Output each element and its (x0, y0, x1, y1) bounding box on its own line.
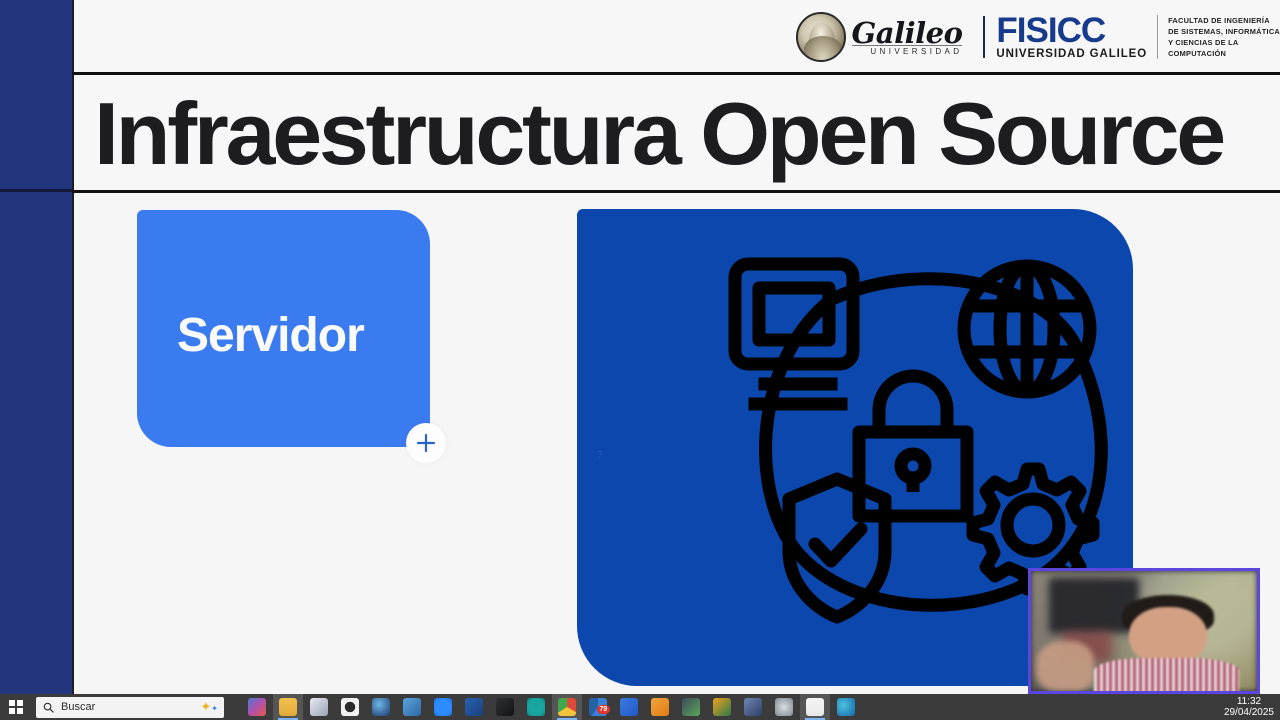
slide-rail-divider (0, 189, 72, 192)
start-icon[interactable] (0, 694, 32, 720)
chrome-notifications-icon[interactable]: 79 (583, 694, 613, 720)
taskbar-clock[interactable]: 11:32 29/04/2025 (1224, 696, 1280, 718)
logo-group: Galileo UNIVERSIDAD FISICC UNIVERSIDAD G… (796, 9, 1280, 65)
edge-icon[interactable] (831, 694, 861, 720)
paint-icon[interactable] (304, 694, 334, 720)
fritzing-icon[interactable] (769, 694, 799, 720)
sublime-text-icon-glyph (651, 698, 669, 716)
pdf-reader-icon-glyph (806, 698, 824, 716)
browser-globe-icon-glyph (372, 698, 390, 716)
galileo-portrait-icon (796, 12, 846, 62)
powershell-icon-glyph (465, 698, 483, 716)
fisicc-logo: FISICC UNIVERSIDAD GALILEO (996, 13, 1147, 61)
taskbar-app-list: 79 (242, 694, 861, 720)
desktop-screen: Galileo UNIVERSIDAD FISICC UNIVERSIDAD G… (0, 0, 1280, 720)
edge-icon-glyph (837, 698, 855, 716)
vmware-icon-glyph (713, 698, 731, 716)
remote-desktop-icon[interactable] (397, 694, 427, 720)
webcam-hand (1036, 641, 1095, 691)
webcam-overlay[interactable] (1028, 568, 1260, 694)
file-explorer-icon[interactable] (273, 694, 303, 720)
sync-folder-icon-glyph (682, 698, 700, 716)
slide-left-rail (0, 0, 72, 694)
network-drive-icon[interactable] (738, 694, 768, 720)
powershell-icon[interactable] (459, 694, 489, 720)
faculty-line: COMPUTACIÓN (1168, 48, 1280, 59)
dropbox-icon[interactable] (614, 694, 644, 720)
slide-header: Galileo UNIVERSIDAD FISICC UNIVERSIDAD G… (74, 0, 1280, 73)
logo-divider (983, 16, 985, 58)
faculty-line: DE SISTEMAS, INFORMÁTICA (1168, 26, 1280, 37)
webcam-presenter (1108, 595, 1226, 691)
remote-desktop-icon-glyph (403, 698, 421, 716)
galileo-logo: Galileo UNIVERSIDAD (796, 12, 973, 62)
faculty-line: Y CIENCIAS DE LA (1168, 37, 1280, 48)
browser-globe-icon[interactable] (366, 694, 396, 720)
search-placeholder: Buscar (61, 701, 95, 713)
plus-icon[interactable] (406, 423, 446, 463)
slide-title-band: Infraestructura Open Source (74, 75, 1280, 190)
sparkle-icon[interactable]: ✦✦ (200, 699, 218, 715)
search-icon (43, 702, 54, 713)
file-explorer-icon-glyph (279, 698, 297, 716)
servidor-card[interactable]: Servidor (137, 210, 430, 447)
clock-date: 29/04/2025 (1224, 707, 1274, 718)
faculty-divider (1157, 15, 1158, 59)
page-title: Infraestructura Open Source (94, 83, 1223, 185)
galileo-name: Galileo (852, 19, 963, 48)
pdf-reader-icon[interactable] (800, 694, 830, 720)
sync-folder-icon[interactable] (676, 694, 706, 720)
arduino-icon-glyph (527, 698, 545, 716)
zoom-icon-glyph (434, 698, 452, 716)
chrome-icon-glyph (558, 698, 576, 716)
faculty-block: FACULTAD DE INGENIERÍA DE SISTEMAS, INFO… (1168, 15, 1280, 60)
servidor-card-label: Servidor (177, 308, 364, 363)
arduino-icon[interactable] (521, 694, 551, 720)
paint-icon-glyph (310, 698, 328, 716)
presenter-face (1129, 607, 1207, 667)
slide-number: 7 (597, 449, 603, 461)
fritzing-icon-glyph (775, 698, 793, 716)
faculty-line: FACULTAD DE INGENIERÍA (1168, 15, 1280, 26)
zoom-icon[interactable] (428, 694, 458, 720)
opera-icon[interactable] (335, 694, 365, 720)
clock-time: 11:32 (1224, 696, 1274, 707)
sublime-text-icon[interactable] (645, 694, 675, 720)
windows-taskbar: Buscar ✦✦ 79 11:32 29/04/2025 (0, 694, 1280, 720)
search-input[interactable]: Buscar ✦✦ (36, 697, 224, 718)
terminal-icon-glyph (496, 698, 514, 716)
vmware-icon[interactable] (707, 694, 737, 720)
chrome-icon[interactable] (552, 694, 582, 720)
presenter-shirt (1094, 658, 1240, 694)
dropbox-icon-glyph (620, 698, 638, 716)
network-drive-icon-glyph (744, 698, 762, 716)
copilot-icon-glyph (248, 698, 266, 716)
fisicc-subtitle: UNIVERSIDAD GALILEO (996, 49, 1147, 61)
fisicc-name: FISICC (996, 13, 1147, 48)
copilot-icon[interactable] (242, 694, 272, 720)
notification-badge: 79 (597, 705, 610, 714)
galileo-wordmark: Galileo UNIVERSIDAD (852, 19, 963, 56)
terminal-icon[interactable] (490, 694, 520, 720)
opera-icon-glyph (341, 698, 359, 716)
